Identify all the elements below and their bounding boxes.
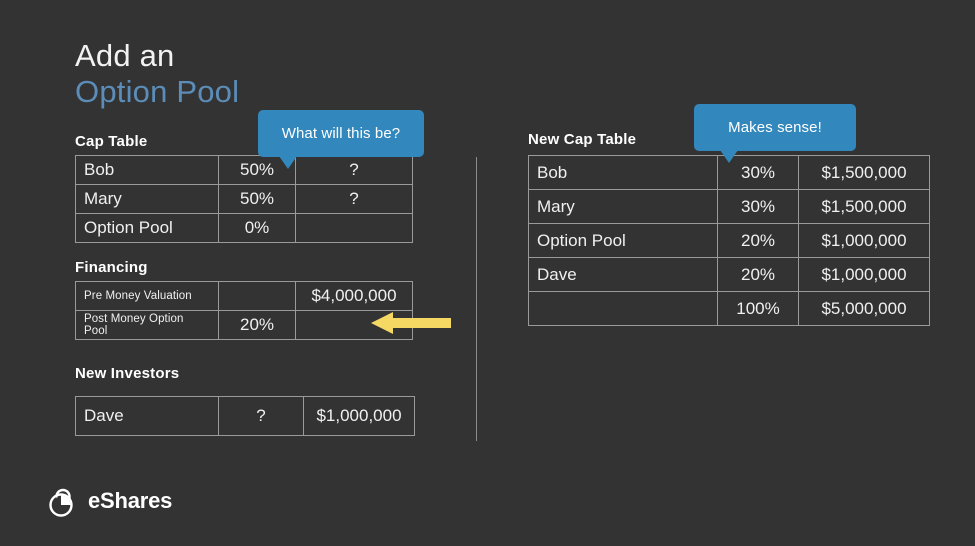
table-row: Bob 50% ? (76, 156, 413, 185)
cell-percent: 20% (718, 258, 799, 292)
financing-heading: Financing (75, 259, 148, 276)
table-row: Mary 50% ? (76, 185, 413, 214)
cap-table: Bob 50% ? Mary 50% ? Option Pool 0% (75, 155, 413, 243)
cell-value: $1,000,000 (799, 258, 930, 292)
table-row: Pre Money Valuation $4,000,000 (76, 282, 413, 311)
cell-name: Dave (76, 397, 219, 436)
cell-percent: 50% (219, 185, 296, 214)
table-row: Post Money Option Pool 20% (76, 311, 413, 340)
cell-name: Option Pool (529, 224, 718, 258)
cell-name: Mary (76, 185, 219, 214)
title-line-2: Option Pool (75, 74, 239, 110)
table-row: Dave 20% $1,000,000 (529, 258, 930, 292)
cell-value: $1,500,000 (799, 190, 930, 224)
cell-value: $1,000,000 (799, 224, 930, 258)
cell-name: Dave (529, 258, 718, 292)
table-row: Mary 30% $1,500,000 (529, 190, 930, 224)
callout-bubble-right: Makes sense! (694, 104, 856, 151)
new-cap-table-heading: New Cap Table (528, 131, 636, 148)
brand-name: eShares (88, 488, 172, 514)
cell-percent-total: 100% (718, 292, 799, 326)
cell-value (296, 214, 413, 243)
cell-name: Bob (76, 156, 219, 185)
new-investors-heading: New Investors (75, 365, 179, 382)
financing-table: Pre Money Valuation $4,000,000 Post Mone… (75, 281, 413, 340)
cell-name: Pre Money Valuation (76, 282, 219, 311)
slide-canvas: Add an Option Pool Cap Table Bob 50% ? M… (0, 0, 975, 546)
cell-value: $1,500,000 (799, 156, 930, 190)
eshares-logo-icon (46, 484, 80, 518)
cell-percent: 0% (219, 214, 296, 243)
cell-value: $1,000,000 (304, 397, 415, 436)
cell-name: Option Pool (76, 214, 219, 243)
cell-name: Mary (529, 190, 718, 224)
cell-percent: 30% (718, 190, 799, 224)
cap-table-heading: Cap Table (75, 133, 147, 150)
new-cap-table: Bob 30% $1,500,000 Mary 30% $1,500,000 O… (528, 155, 930, 326)
cell-percent: ? (219, 397, 304, 436)
cell-name: Bob (529, 156, 718, 190)
cell-value: ? (296, 156, 413, 185)
cell-percent (219, 282, 296, 311)
table-row: Dave ? $1,000,000 (76, 397, 415, 436)
cell-name: Post Money Option Pool (76, 311, 219, 340)
callout-bubble-left: What will this be? (258, 110, 424, 157)
page-title: Add an Option Pool (75, 38, 239, 110)
brand-logo: eShares (46, 484, 172, 518)
column-divider (476, 157, 477, 441)
cell-value: $4,000,000 (296, 282, 413, 311)
cell-percent: 20% (219, 311, 296, 340)
cell-value-total: $5,000,000 (799, 292, 930, 326)
title-line-1: Add an (75, 38, 239, 74)
left-arrow-icon (371, 312, 451, 334)
cell-value: ? (296, 185, 413, 214)
cell-name (529, 292, 718, 326)
cell-percent: 20% (718, 224, 799, 258)
table-row: Option Pool 0% (76, 214, 413, 243)
table-row-total: 100% $5,000,000 (529, 292, 930, 326)
new-investors-table: Dave ? $1,000,000 (75, 396, 415, 436)
table-row: Option Pool 20% $1,000,000 (529, 224, 930, 258)
